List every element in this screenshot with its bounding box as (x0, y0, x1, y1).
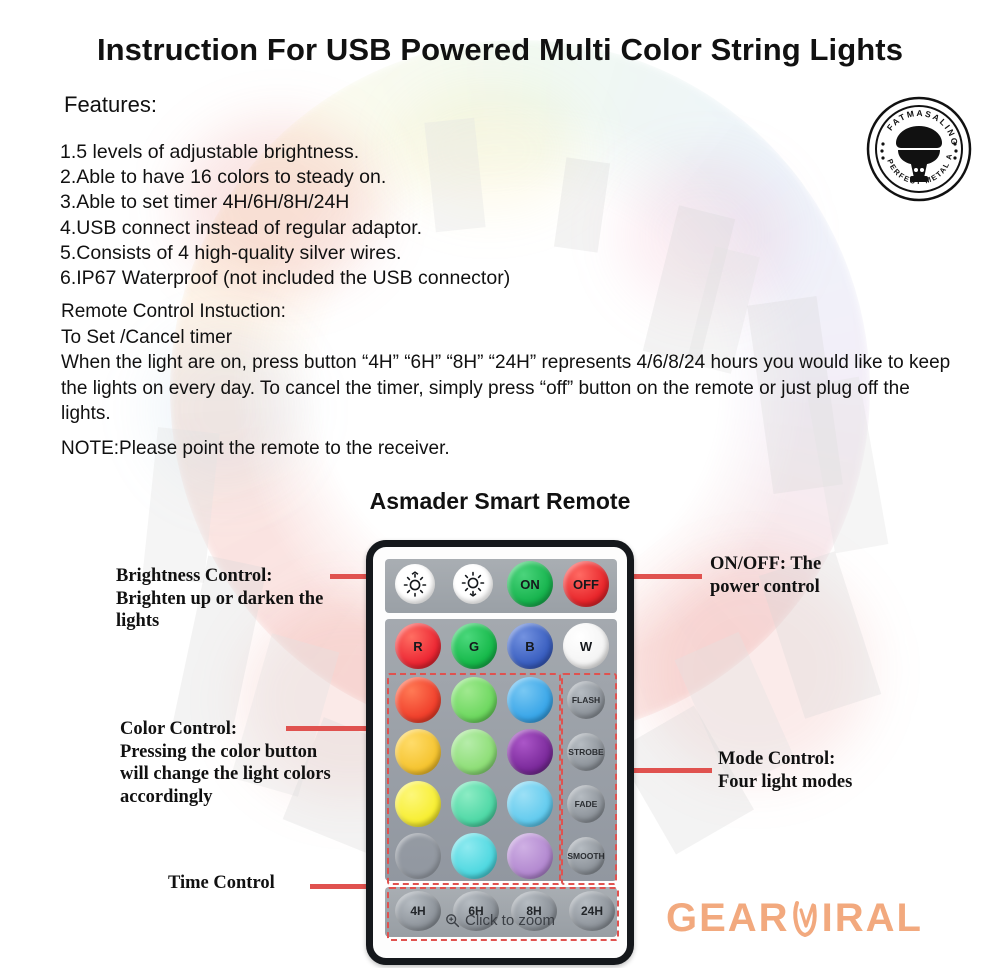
building-shape (554, 157, 610, 252)
callout-onoff-body: power control (710, 576, 890, 599)
feature-item: 2.Able to have 16 colors to steady on. (60, 165, 510, 190)
off-button[interactable]: OFF (563, 561, 609, 607)
off-button-label: OFF (573, 577, 599, 592)
watermark-text-part2: IRAL (822, 896, 923, 941)
callout-color-body: Pressing the color button will change th… (120, 741, 350, 809)
magnifier-icon (445, 913, 460, 928)
sun-bright-icon (402, 571, 428, 597)
brand-badge: FATMASALING PERFECT METAL ART (866, 96, 972, 202)
white-button[interactable]: W (563, 623, 609, 669)
highlight-mode-column (561, 673, 617, 885)
callout-brightness: Brightness Control: Brighten up or darke… (116, 565, 331, 633)
callout-color-heading: Color Control: (120, 718, 350, 741)
watermark-v-glyph (790, 899, 822, 939)
brightness-down-button[interactable] (453, 564, 493, 604)
blue-button-label: B (525, 639, 534, 654)
page-title: Instruction For USB Powered Multi Color … (0, 32, 1000, 68)
highlight-color-grid (387, 673, 561, 885)
callout-mode-heading: Mode Control: (718, 748, 908, 771)
callout-color: Color Control: Pressing the color button… (120, 718, 350, 808)
click-to-zoom-label: Click to zoom (465, 912, 555, 929)
callout-brightness-heading: Brightness Control: (116, 565, 331, 588)
brightness-up-button[interactable] (395, 564, 435, 604)
green-button-label: G (469, 639, 479, 654)
click-to-zoom-hint[interactable]: Click to zoom (373, 912, 627, 929)
instruction-heading: Remote Control Instuction: (61, 299, 956, 325)
watermark-text-part1: GEAR (666, 896, 790, 941)
gearviral-watermark: GEAR IRAL (666, 896, 923, 941)
callout-mode-body: Four light modes (718, 771, 908, 794)
instruction-body: When the light are on, press button “4H”… (61, 350, 956, 427)
instruction-page: Instruction For USB Powered Multi Color … (0, 0, 1000, 968)
feature-item: 4.USB connect instead of regular adaptor… (60, 216, 510, 241)
feature-item: 6.IP67 Waterproof (not included the USB … (60, 266, 510, 291)
callout-onoff: ON/OFF: The power control (710, 553, 890, 598)
callout-time-heading: Time Control (168, 872, 275, 895)
white-button-label: W (580, 639, 592, 654)
paint-blob (620, 160, 790, 310)
red-button[interactable]: R (395, 623, 441, 669)
features-heading: Features: (64, 92, 157, 118)
remote-control: ON OFF R G B W FLASH (366, 540, 634, 965)
callout-mode: Mode Control: Four light modes (718, 748, 908, 793)
remote-instruction-block: Remote Control Instuction: To Set /Cance… (61, 299, 956, 427)
callout-brightness-body: Brighten up or darken the lights (116, 588, 331, 633)
feature-item: 5.Consists of 4 high-quality silver wire… (60, 241, 510, 266)
instruction-note: NOTE:Please point the remote to the rece… (61, 438, 450, 460)
on-button[interactable]: ON (507, 561, 553, 607)
on-button-label: ON (520, 577, 540, 592)
features-list: 1.5 levels of adjustable brightness. 2.A… (60, 140, 510, 291)
red-button-label: R (413, 639, 422, 654)
green-button[interactable]: G (451, 623, 497, 669)
instruction-subheading: To Set /Cancel timer (61, 325, 956, 351)
feature-item: 1.5 levels of adjustable brightness. (60, 140, 510, 165)
sun-dim-icon (460, 571, 486, 597)
remote-title: Asmader Smart Remote (0, 488, 1000, 515)
callout-onoff-heading: ON/OFF: The (710, 553, 890, 576)
blue-button[interactable]: B (507, 623, 553, 669)
callout-time: Time Control (168, 872, 275, 895)
bell-emblem-icon: FATMASALING PERFECT METAL ART (866, 96, 972, 202)
feature-item: 3.Able to set timer 4H/6H/8H/24H (60, 190, 510, 215)
